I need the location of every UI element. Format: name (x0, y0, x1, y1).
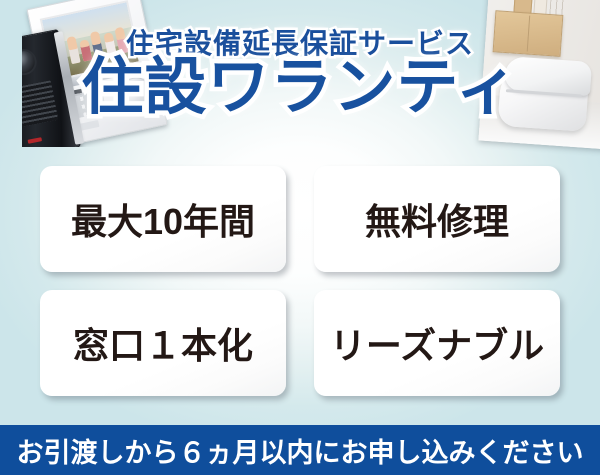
intercom-photo (22, 0, 172, 147)
promo-banner: 住宅設備延長保証サービス 住設ワランティ 最大10年間 無料修理 窓口１本化 リ… (0, 0, 600, 475)
feature-card-grid: 最大10年間 無料修理 窓口１本化 リーズナブル (40, 166, 560, 396)
cta-bar-text: お引渡しから６ヵ月以内にお申し込みください (17, 431, 584, 470)
feature-card-reasonable[interactable]: リーズナブル (314, 290, 560, 396)
feature-card-label: 窓口１本化 (73, 317, 253, 369)
feature-card-label: リーズナブル (330, 317, 544, 369)
feature-card-free-repair[interactable]: 無料修理 (314, 166, 560, 272)
toilet-photo (478, 0, 600, 149)
feature-card-label: 無料修理 (365, 193, 509, 245)
camera-lens-icon (22, 47, 39, 77)
feature-card-single-contact[interactable]: 窓口１本化 (40, 290, 286, 396)
cta-bar[interactable]: お引渡しから６ヵ月以内にお申し込みください (0, 425, 600, 475)
feature-card-label: 最大10年間 (71, 193, 255, 245)
feature-card-max-years[interactable]: 最大10年間 (40, 166, 286, 272)
